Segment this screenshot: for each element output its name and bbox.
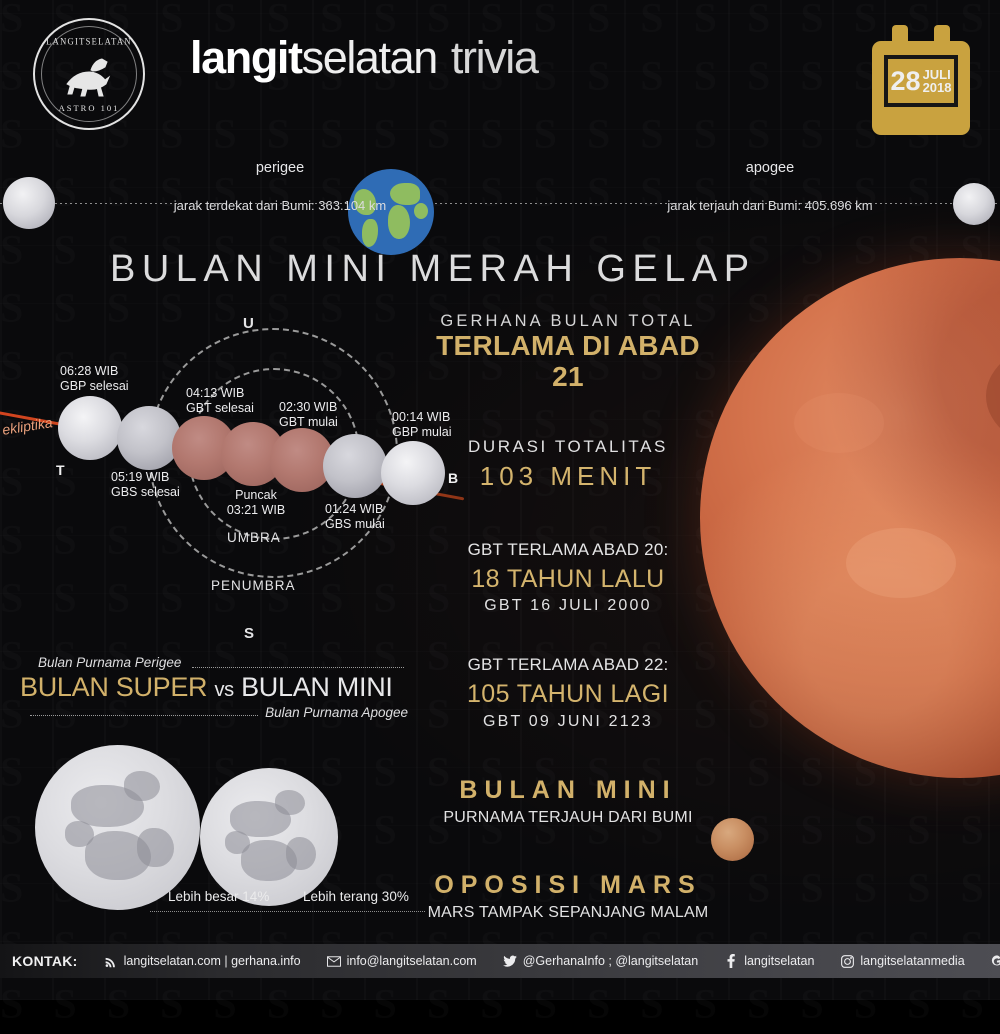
comparison-top-leader-line <box>192 667 404 668</box>
perigee-label: perigee <box>130 160 430 176</box>
footer-item-website[interactable]: langitselatan.com | gerhana.info <box>104 954 301 968</box>
phase-time: 02:30 WIB <box>279 400 338 415</box>
brand-title: langitselatantrivia <box>190 35 538 80</box>
century22-label: GBT TERLAMA ABAD 22: <box>418 655 718 675</box>
apogee-label: apogee <box>605 160 935 176</box>
eclipse-headline: TERLAMA DI ABAD 21 <box>418 331 718 393</box>
calendar-month-year: JULI 2018 <box>923 68 952 94</box>
brand-part-2: selatan <box>302 32 437 83</box>
page-title: BULAN MINI MERAH GELAP <box>110 248 756 291</box>
brand-part-3: trivia <box>451 32 538 83</box>
footer-item-text: langitselatan.com | gerhana.info <box>124 954 301 968</box>
phase-event: GBP selesai <box>60 379 129 394</box>
moon-phase-gbs-selesai <box>117 406 181 470</box>
marker-s: S <box>244 625 255 642</box>
footer-item-instagram[interactable]: langitselatanmedia <box>840 954 964 968</box>
eclipse-diagram: ekliptika U S T B UMBRA PENUMBRA 06:28 W… <box>0 310 470 650</box>
marker-u: U <box>243 315 254 332</box>
footer-item-text: langitselatan <box>744 954 814 968</box>
century22-block: GBT TERLAMA ABAD 22: 105 TAHUN LAGI GBT … <box>418 655 718 731</box>
footer-item-text: langitselatanmedia <box>860 954 964 968</box>
phase-event: GBT mulai <box>279 415 338 430</box>
phase-callout-gbp-selesai: 06:28 WIB GBP selesai <box>60 364 129 394</box>
century20-block: GBT TERLAMA ABAD 20: 18 TAHUN LALU GBT 1… <box>418 540 718 616</box>
apogee-distance: jarak terjauh dari Bumi: 405.696 km <box>605 198 935 213</box>
moon-icon-apogee <box>953 183 995 225</box>
minimoon-block: BULAN MINI PURNAMA TERJAUH DARI BUMI <box>418 776 718 827</box>
twitter-icon <box>503 954 517 968</box>
minimoon-title: BULAN MINI <box>418 776 718 805</box>
phase-time: 05:19 WIB <box>111 470 180 485</box>
comparison-stat-brightness: Lebih terang 30% <box>303 889 409 904</box>
century20-label: GBT TERLAMA ABAD 20: <box>418 540 718 560</box>
full-moon-icon-mini <box>200 768 338 906</box>
peak-time: 03:21 WIB <box>226 503 286 518</box>
umbra-label: UMBRA <box>227 530 281 545</box>
moon-phase-gbs-mulai <box>323 434 387 498</box>
footer-item-text: info@langitselatan.com <box>347 954 477 968</box>
logo-inner-ring: LANGITSELATAN ASTRO 101 <box>41 26 137 122</box>
logo-bottom-text: ASTRO 101 <box>42 103 136 113</box>
minimoon-subtitle: PURNAMA TERJAUH DARI BUMI <box>418 809 718 827</box>
perigee-distance: jarak terdekat dari Bumi: 363.104 km <box>130 198 430 213</box>
facebook-icon <box>724 954 738 968</box>
duration-value: 103 MENIT <box>418 461 718 492</box>
comparison-bottom-leader-line <box>30 715 258 716</box>
ecliptic-label: ekliptika <box>1 414 53 438</box>
century22-date: GBT 09 JUNI 2123 <box>418 713 718 731</box>
peak-callout: Puncak 03:21 WIB <box>226 488 286 518</box>
calendar-icon: 28 JULI 2018 <box>872 25 970 135</box>
comparison-title-vs: vs <box>214 679 233 701</box>
full-moon-icon-super <box>35 745 200 910</box>
comparison-title: BULAN SUPER vs BULAN MINI <box>20 672 420 703</box>
logo-top-text: LANGITSELATAN <box>42 35 136 47</box>
moon-comparison-header: Bulan Purnama Perigee BULAN SUPER vs BUL… <box>20 655 420 720</box>
penumbra-label: PENUMBRA <box>211 578 296 593</box>
eclipse-kicker: GERHANA BULAN TOTAL <box>418 312 718 331</box>
footer-item-googleplus[interactable]: +LangitselatanMedia <box>991 954 1000 968</box>
moon-icon-perigee <box>3 177 55 229</box>
phase-callout-gbs-selesai: 05:19 WIB GBS selesai <box>111 470 180 500</box>
comparison-stat-line <box>150 911 425 912</box>
century22-value: 105 TAHUN LAGI <box>418 680 718 709</box>
phase-time: 01:24 WIB <box>325 502 385 517</box>
horse-rider-logo-icon <box>61 50 117 98</box>
calendar-date-plate: 28 JULI 2018 <box>888 59 954 103</box>
perigee-label-group: perigee jarak terdekat dari Bumi: 363.10… <box>130 160 430 213</box>
phase-callout-gbt-selesai: 04:13 WIB GBT selesai <box>186 386 254 416</box>
footer-item-twitter[interactable]: @GerhanaInfo ; @langitselatan <box>503 954 698 968</box>
peak-label: Puncak <box>226 488 286 503</box>
comparison-title-right: BULAN MINI <box>241 672 393 702</box>
century20-value: 18 TAHUN LALU <box>418 565 718 594</box>
watermark-row: SSSSSSSSSSSSSSSSSSSSSSSS <box>0 976 1000 1034</box>
comparison-bottom-caption: Bulan Purnama Apogee <box>20 705 420 720</box>
footer-item-email[interactable]: info@langitselatan.com <box>327 954 477 968</box>
header: LANGITSELATAN ASTRO 101 langitselatantri… <box>0 0 1000 148</box>
phase-time: 06:28 WIB <box>60 364 129 379</box>
brand-part-1: langit <box>190 32 302 83</box>
footer-item-facebook[interactable]: langitselatan <box>724 954 814 968</box>
duration-block: DURASI TOTALITAS 103 MENIT <box>418 437 718 492</box>
mars-title: OPOSISI MARS <box>418 871 718 900</box>
comparison-title-left: BULAN SUPER <box>20 672 207 702</box>
phase-callout-gbs-mulai: 01:24 WIB GBS mulai <box>325 502 385 532</box>
phase-event: GBS selesai <box>111 485 180 500</box>
moon-phase-gbp-selesai <box>58 396 122 460</box>
envelope-icon <box>327 954 341 968</box>
info-column: GERHANA BULAN TOTAL TERLAMA DI ABAD 21 D… <box>418 312 718 922</box>
rss-icon <box>104 954 118 968</box>
apogee-label-group: apogee jarak terjauh dari Bumi: 405.696 … <box>605 160 935 213</box>
instagram-icon <box>840 954 854 968</box>
duration-label: DURASI TOTALITAS <box>418 437 718 457</box>
phase-event: GBS mulai <box>325 517 385 532</box>
phase-time: 04:13 WIB <box>186 386 254 401</box>
marker-t: T <box>56 462 65 478</box>
phase-event: GBT selesai <box>186 401 254 416</box>
footer-kontak-label: KONTAK: <box>12 953 78 969</box>
googleplus-icon <box>991 954 1000 968</box>
calendar-year: 2018 <box>923 81 952 94</box>
century20-date: GBT 16 JULI 2000 <box>418 597 718 615</box>
calendar-day: 28 <box>891 68 921 95</box>
footer-item-text: @GerhanaInfo ; @langitselatan <box>523 954 698 968</box>
mars-block: OPOSISI MARS MARS TAMPAK SEPANJANG MALAM <box>418 871 718 922</box>
comparison-stat-size: Lebih besar 14% <box>168 889 269 904</box>
phase-callout-gbt-mulai: 02:30 WIB GBT mulai <box>279 400 338 430</box>
mars-subtitle: MARS TAMPAK SEPANJANG MALAM <box>418 904 718 922</box>
logo-badge: LANGITSELATAN ASTRO 101 <box>33 18 145 130</box>
footer-contact-bar: KONTAK: langitselatan.com | gerhana.info… <box>0 944 1000 978</box>
